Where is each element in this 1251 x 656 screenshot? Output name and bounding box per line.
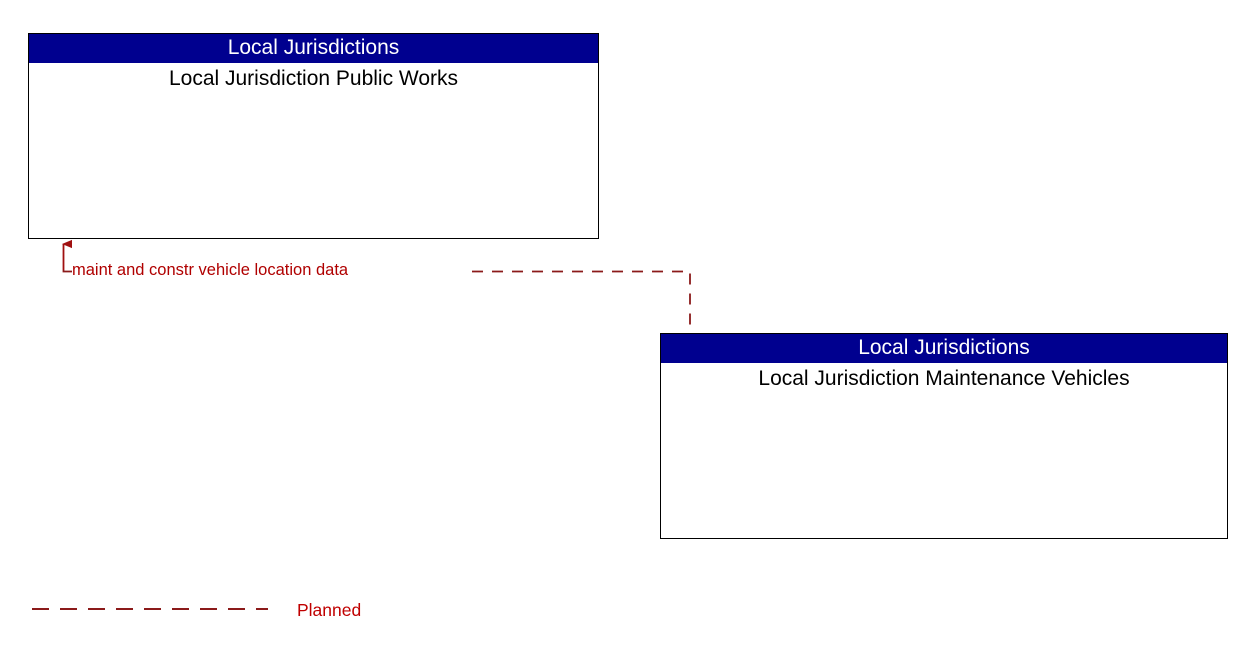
flow-label-maint-constr-vehicle-location-data[interactable]: maint and constr vehicle location data [72,261,348,279]
node-header-local-jurisdictions: Local Jurisdictions [29,34,598,63]
flow-elbow-left [64,270,73,272]
node-name-local-jurisdiction-public-works: Local Jurisdiction Public Works [29,63,598,92]
flow-path-maint-constr-vehicle-location-data [472,272,690,334]
diagram-canvas: Local Jurisdictions Local Jurisdiction P… [0,0,1251,656]
node-name-local-jurisdiction-maintenance-vehicles: Local Jurisdiction Maintenance Vehicles [661,363,1227,392]
node-local-jurisdiction-public-works[interactable]: Local Jurisdictions Local Jurisdiction P… [28,33,599,239]
node-local-jurisdiction-maintenance-vehicles[interactable]: Local Jurisdictions Local Jurisdiction M… [660,333,1228,539]
legend-label-planned: Planned [297,600,361,620]
node-header-local-jurisdictions: Local Jurisdictions [661,334,1227,363]
